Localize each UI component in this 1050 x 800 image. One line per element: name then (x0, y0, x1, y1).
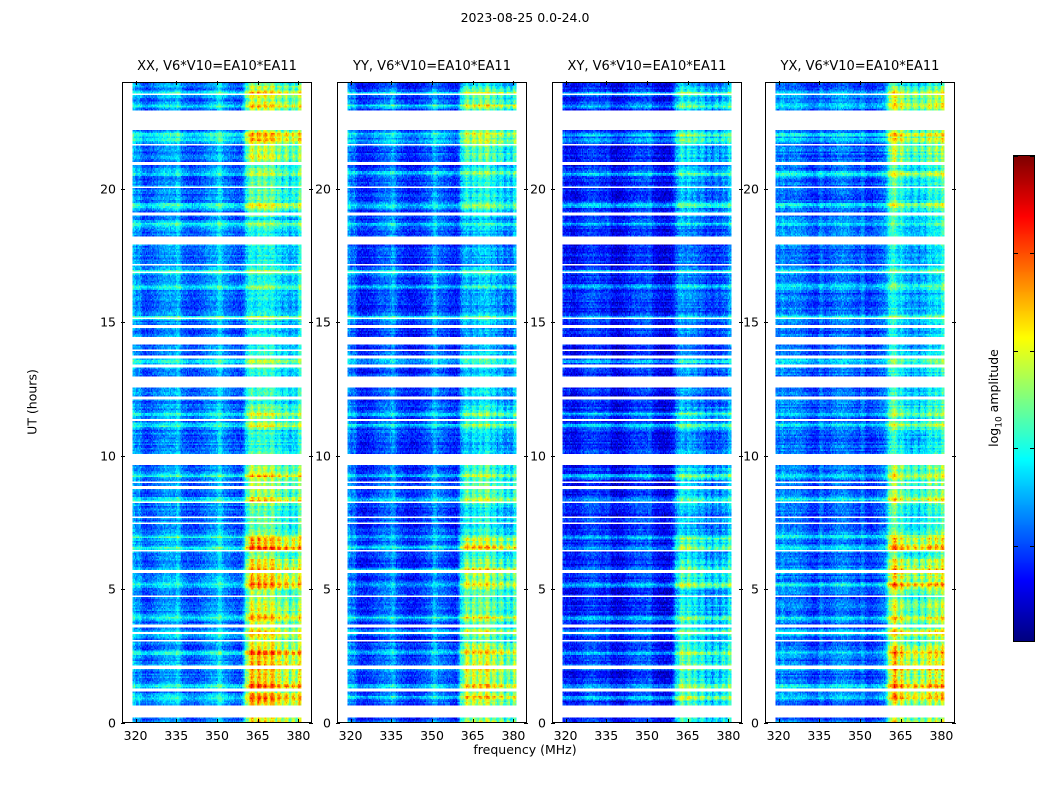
y-axis-label: UT (hours) (25, 369, 40, 435)
y-tick (551, 456, 555, 457)
x-tick-label: 365 (246, 728, 270, 743)
panel-yy[interactable]: YY, V6*V10=EA10*EA11 3203353503653800510… (337, 82, 527, 723)
x-tick-label: 320 (554, 728, 578, 743)
x-tick (860, 719, 861, 723)
panel-plot-area-xx[interactable] (122, 82, 312, 723)
y-tick (309, 589, 313, 590)
x-tick-label: 320 (767, 728, 791, 743)
y-tick-label: 5 (323, 582, 331, 597)
spectrogram-yy (338, 83, 526, 722)
x-tick (779, 81, 780, 85)
x-tick (136, 719, 137, 723)
y-tick (121, 589, 125, 590)
y-tick-label: 15 (743, 315, 759, 330)
colorbar-tick (1030, 546, 1035, 547)
x-tick (688, 719, 689, 723)
x-tick-label: 335 (807, 728, 831, 743)
y-tick (952, 589, 956, 590)
y-tick-label: 10 (100, 448, 116, 463)
y-tick-label: 15 (315, 315, 331, 330)
x-tick (432, 81, 433, 85)
x-tick-label: 350 (635, 728, 659, 743)
y-tick (764, 322, 768, 323)
y-tick (551, 189, 555, 190)
x-tick (217, 719, 218, 723)
y-tick (551, 322, 555, 323)
x-tick (513, 81, 514, 85)
y-tick (551, 723, 555, 724)
y-tick (524, 723, 528, 724)
colorbar-tick (1030, 253, 1035, 254)
y-tick-label: 15 (100, 315, 116, 330)
panel-title-yx: YX, V6*V10=EA10*EA11 (781, 59, 940, 74)
x-tick (606, 81, 607, 85)
y-tick-label: 0 (108, 716, 116, 731)
x-tick (298, 719, 299, 723)
x-tick-label: 365 (676, 728, 700, 743)
spectrogram-xy (553, 83, 741, 722)
x-tick (298, 81, 299, 85)
figure-canvas: 2023-08-25 0.0-24.0 UT (hours) frequency… (0, 0, 1050, 800)
colorbar-tick (1013, 253, 1018, 254)
x-tick (647, 719, 648, 723)
x-tick-label: 380 (929, 728, 953, 743)
y-tick-label: 0 (538, 716, 546, 731)
x-tick-label: 335 (379, 728, 403, 743)
y-tick (739, 723, 743, 724)
x-tick-label: 350 (848, 728, 872, 743)
x-tick (217, 81, 218, 85)
y-tick (952, 322, 956, 323)
y-tick (551, 589, 555, 590)
panel-title-xy: XY, V6*V10=EA10*EA11 (568, 59, 727, 74)
y-tick-label: 5 (751, 582, 759, 597)
x-tick (819, 81, 820, 85)
x-tick-label: 320 (124, 728, 148, 743)
y-tick (336, 456, 340, 457)
x-tick (513, 719, 514, 723)
colorbar[interactable]: −4−3−2−101 (1013, 155, 1035, 642)
panel-xx[interactable]: XX, V6*V10=EA10*EA11 3203353503653800510… (122, 82, 312, 723)
y-tick-label: 5 (538, 582, 546, 597)
y-tick (952, 723, 956, 724)
x-tick-label: 335 (594, 728, 618, 743)
x-tick-label: 380 (716, 728, 740, 743)
x-tick-label: 380 (286, 728, 310, 743)
x-tick (258, 81, 259, 85)
y-tick (764, 456, 768, 457)
y-tick-label: 15 (530, 315, 546, 330)
colorbar-label-tail: amplitude (986, 349, 1001, 416)
panel-title-yy: YY, V6*V10=EA10*EA11 (353, 59, 511, 74)
x-tick (901, 719, 902, 723)
y-tick-label: 10 (315, 448, 331, 463)
x-tick (176, 719, 177, 723)
y-tick-label: 20 (743, 181, 759, 196)
panel-title-xx: XX, V6*V10=EA10*EA11 (137, 59, 297, 74)
colorbar-gradient (1014, 156, 1034, 641)
colorbar-tick (1013, 156, 1018, 157)
panel-xy[interactable]: XY, V6*V10=EA10*EA11 3203353503653800510… (552, 82, 742, 723)
x-tick (432, 719, 433, 723)
x-tick (901, 81, 902, 85)
x-tick-label: 350 (205, 728, 229, 743)
x-tick (258, 719, 259, 723)
colorbar-label-main: log (986, 428, 1001, 447)
y-tick (336, 322, 340, 323)
y-tick (764, 589, 768, 590)
x-tick (688, 81, 689, 85)
x-tick (728, 719, 729, 723)
colorbar-tick (1013, 546, 1018, 547)
y-tick (121, 322, 125, 323)
x-tick (473, 719, 474, 723)
y-tick (309, 189, 313, 190)
x-tick (473, 81, 474, 85)
colorbar-tick (1030, 156, 1035, 157)
x-tick (860, 81, 861, 85)
x-tick (779, 719, 780, 723)
x-tick (351, 81, 352, 85)
y-tick (764, 189, 768, 190)
panel-plot-area-xy[interactable] (552, 82, 742, 723)
y-tick (336, 723, 340, 724)
x-tick (351, 719, 352, 723)
y-tick (121, 456, 125, 457)
x-tick (728, 81, 729, 85)
x-tick-label: 365 (889, 728, 913, 743)
x-tick-label: 380 (501, 728, 525, 743)
y-tick-label: 0 (751, 716, 759, 731)
figure-suptitle: 2023-08-25 0.0-24.0 (0, 10, 1050, 25)
y-tick (764, 723, 768, 724)
x-tick (176, 81, 177, 85)
colorbar-tick (1013, 448, 1018, 449)
y-tick (309, 723, 313, 724)
y-tick (524, 456, 528, 457)
panel-plot-area-yy[interactable] (337, 82, 527, 723)
y-tick (524, 322, 528, 323)
y-tick (336, 189, 340, 190)
x-tick (391, 719, 392, 723)
y-tick (121, 723, 125, 724)
y-tick-label: 20 (315, 181, 331, 196)
y-tick (739, 589, 743, 590)
x-axis-label: frequency (MHz) (0, 742, 1050, 757)
x-tick (391, 81, 392, 85)
x-tick (819, 719, 820, 723)
colorbar-label: log10 amplitude (986, 349, 1005, 447)
y-tick-label: 20 (530, 181, 546, 196)
x-tick (136, 81, 137, 85)
y-tick (524, 589, 528, 590)
x-tick (941, 81, 942, 85)
x-tick (647, 81, 648, 85)
x-tick-label: 365 (461, 728, 485, 743)
y-tick-label: 5 (108, 582, 116, 597)
x-tick (566, 81, 567, 85)
colorbar-label-sub: 10 (994, 416, 1004, 427)
colorbar-tick (1030, 351, 1035, 352)
y-tick (336, 589, 340, 590)
colorbar-tick (1030, 448, 1035, 449)
x-tick-label: 320 (339, 728, 363, 743)
spectrogram-xx (123, 83, 311, 722)
y-tick (524, 189, 528, 190)
y-tick (309, 456, 313, 457)
x-tick-label: 350 (420, 728, 444, 743)
colorbar-tick (1013, 351, 1018, 352)
y-tick-label: 20 (100, 181, 116, 196)
y-tick (952, 456, 956, 457)
spectrogram-yx (766, 83, 954, 722)
y-tick (952, 189, 956, 190)
x-tick (941, 719, 942, 723)
y-tick-label: 0 (323, 716, 331, 731)
y-tick (121, 189, 125, 190)
x-tick (606, 719, 607, 723)
x-tick-label: 335 (164, 728, 188, 743)
x-tick (566, 719, 567, 723)
y-tick-label: 10 (743, 448, 759, 463)
y-tick (309, 322, 313, 323)
panel-yx[interactable]: YX, V6*V10=EA10*EA11 3203353503653800510… (765, 82, 955, 723)
panel-plot-area-yx[interactable] (765, 82, 955, 723)
y-tick-label: 10 (530, 448, 546, 463)
